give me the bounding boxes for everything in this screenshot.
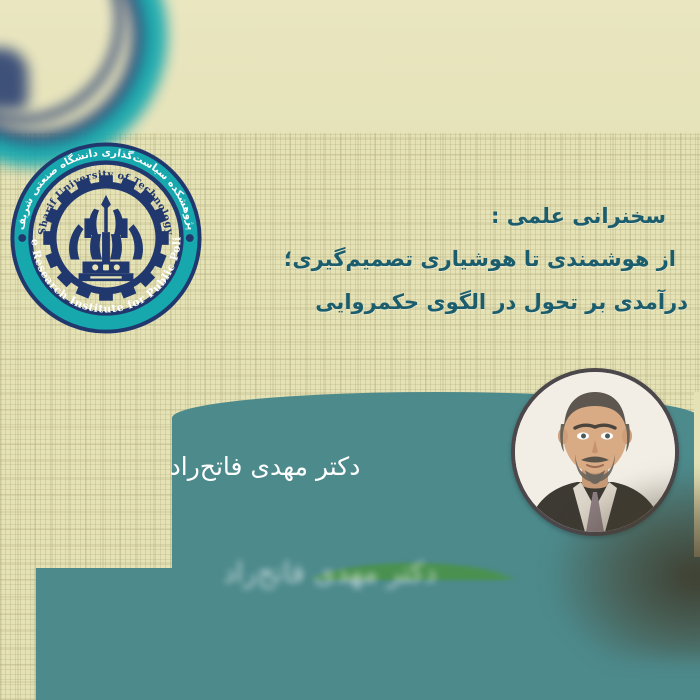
headline-line-2: از هوشمندی تا هوشیاری تصمیم‌گیری؛ — [206, 249, 676, 270]
poster-root: پژوهشکده سیاست‌گذاری دانشگاه صنعتی شریف … — [0, 0, 700, 700]
decorative-dark-corner-blur — [550, 470, 700, 660]
headline-block: سخنرانی علمی : از هوشمندی تا هوشیاری تصم… — [206, 206, 676, 335]
headline-line-3: درآمدی بر تحول در الگوی حکمروایی — [206, 292, 688, 313]
headline-line-1: سخنرانی علمی : — [206, 206, 666, 227]
sharif-university-logo: پژوهشکده سیاست‌گذاری دانشگاه صنعتی شریف … — [8, 140, 204, 336]
